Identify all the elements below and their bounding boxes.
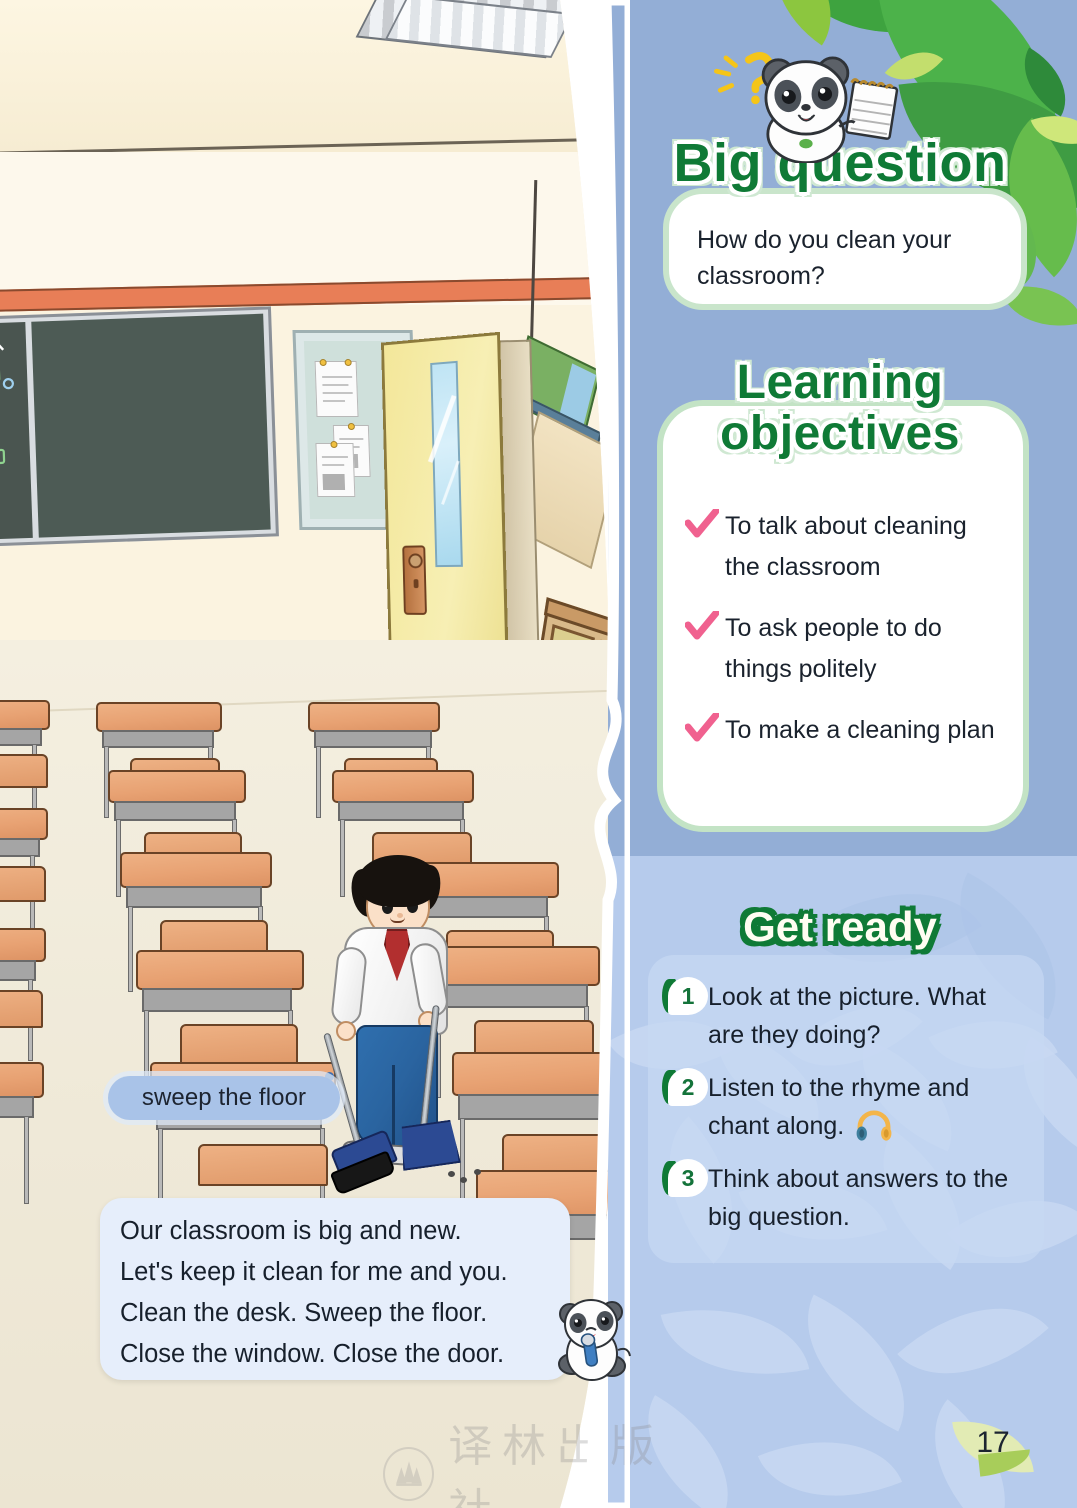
dust-speck	[460, 1177, 467, 1183]
pin-icon	[348, 423, 355, 430]
step-number-badge: 3	[662, 1159, 708, 1197]
get-ready-item: 2 Listen to the rhyme and chant along.	[662, 1068, 1028, 1145]
step-number-badge: 2	[662, 1068, 708, 1106]
step-number: 2	[668, 1068, 708, 1106]
panda-with-notepad-icon	[705, 48, 905, 163]
objective-item: To talk about cleaning the classroom	[685, 506, 1003, 588]
learning-objectives-title-line1: Learning	[640, 358, 1040, 409]
get-ready-text-label: Listen to the rhyme and chant along.	[708, 1074, 969, 1140]
sweep-the-floor-label: sweep the floor	[142, 1084, 306, 1112]
get-ready-item: 3 Think about answers to the big questio…	[662, 1159, 1028, 1236]
objective-text: To talk about cleaning the classroom	[725, 506, 1003, 588]
page-number-leaf: 17	[955, 1418, 1031, 1476]
textbook-page: sweep the floor Our classroom is big and…	[0, 0, 1077, 1508]
learning-objectives-title: Learning objectives	[640, 358, 1040, 460]
rhyme-line-1: Our classroom is big and new.	[120, 1211, 550, 1252]
get-ready-text: Listen to the rhyme and chant along.	[708, 1068, 1028, 1145]
get-ready-title: Get ready	[640, 905, 1040, 950]
objective-item: To ask people to do things politely	[685, 608, 1003, 690]
pin-icon	[330, 441, 337, 448]
panda-with-microphone-icon	[552, 1292, 634, 1392]
notice-paper	[315, 443, 355, 497]
blackboard-panel-right	[31, 314, 270, 538]
pink-check-icon	[685, 506, 725, 544]
headphones-icon	[855, 1110, 893, 1142]
pink-check-icon	[685, 608, 725, 646]
objective-text: To make a cleaning plan	[725, 710, 995, 751]
pin-icon	[320, 359, 327, 366]
get-ready-text: Think about answers to the big question.	[708, 1159, 1028, 1236]
boy-sweeping	[330, 855, 460, 1185]
pin-icon	[345, 359, 352, 366]
objective-item: To make a cleaning plan	[685, 710, 1003, 751]
step-number: 1	[668, 977, 708, 1015]
door-knob-icon	[408, 553, 423, 568]
door-handle[interactable]	[402, 545, 427, 615]
learning-objectives-card: To talk about cleaning the classroom To …	[657, 400, 1029, 832]
rhyme-line-2: Let's keep it clean for me and you.	[120, 1252, 550, 1293]
boy-left-hand	[336, 1021, 356, 1041]
objective-text: To ask people to do things politely	[725, 608, 1003, 690]
get-ready-text: Look at the picture. What are they doing…	[708, 977, 1028, 1054]
pink-check-icon	[685, 710, 725, 748]
dust-speck	[474, 1169, 481, 1175]
step-number: 3	[668, 1159, 708, 1197]
sweep-the-floor-callout: sweep the floor	[108, 1076, 340, 1120]
big-question-card: How do you clean your classroom?	[663, 188, 1027, 310]
rhyme-card: Our classroom is big and new. Let's keep…	[100, 1198, 570, 1380]
rhyme-line-4: Close the window. Close the door.	[120, 1334, 550, 1375]
classroom-illustration: sweep the floor Our classroom is big and…	[0, 0, 648, 1508]
dustpan	[397, 1119, 461, 1171]
rhyme-line-3: Clean the desk. Sweep the floor.	[120, 1293, 550, 1334]
chalk-drawing	[0, 328, 47, 531]
step-number-badge: 1	[662, 977, 708, 1015]
dust-speck	[448, 1171, 455, 1177]
notice-paper	[315, 361, 359, 417]
get-ready-card: 1 Look at the picture. What are they doi…	[648, 955, 1044, 1263]
big-question-text: How do you clean your classroom?	[697, 222, 995, 294]
page-number: 17	[955, 1426, 1031, 1460]
learning-objectives-title-line2: objectives	[640, 409, 1040, 460]
get-ready-item: 1 Look at the picture. What are they doi…	[662, 977, 1028, 1054]
door-glass-panel	[430, 361, 463, 567]
